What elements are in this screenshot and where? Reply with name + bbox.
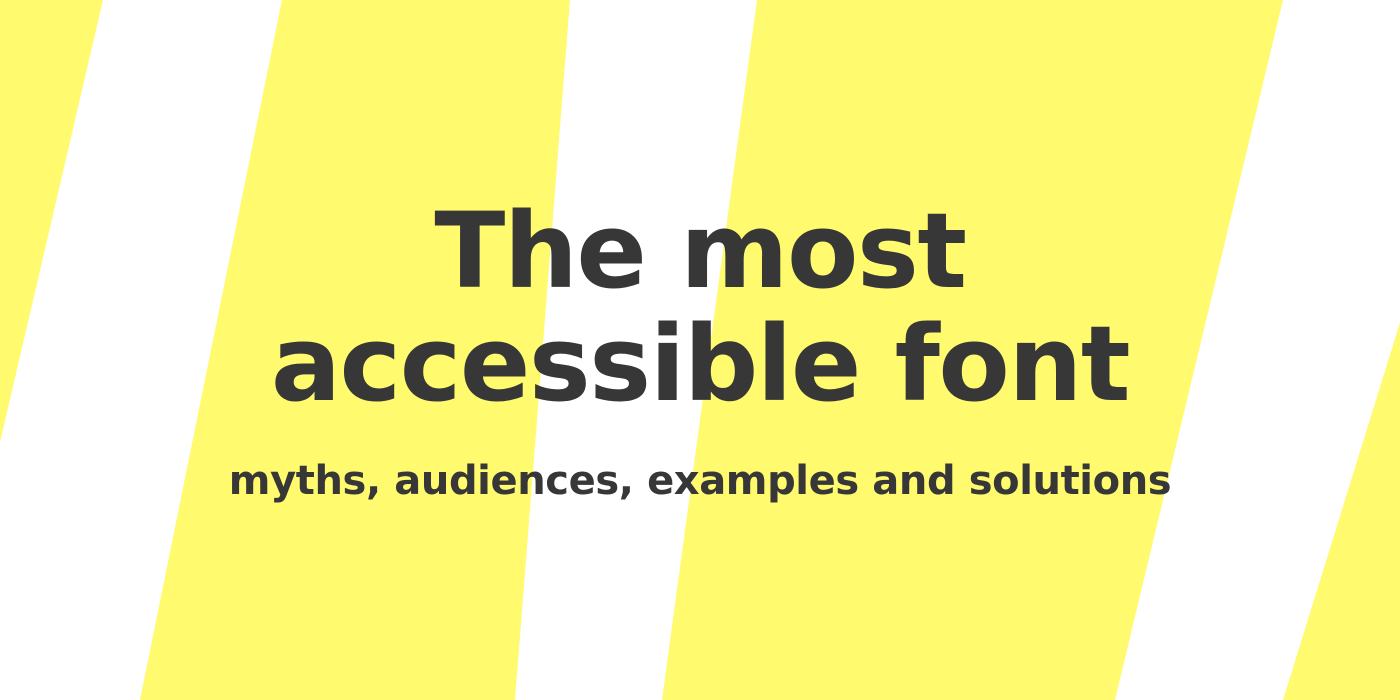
title-block: The most accessible font myths, audience… (110, 195, 1290, 505)
page-title-line-1: The most (110, 195, 1290, 308)
slide-canvas: The most accessible font myths, audience… (0, 0, 1400, 700)
page-subtitle: myths, audiences, examples and solutions (110, 457, 1290, 505)
page-title-line-2: accessible font (110, 308, 1290, 421)
slide-content: The most accessible font myths, audience… (0, 0, 1400, 700)
